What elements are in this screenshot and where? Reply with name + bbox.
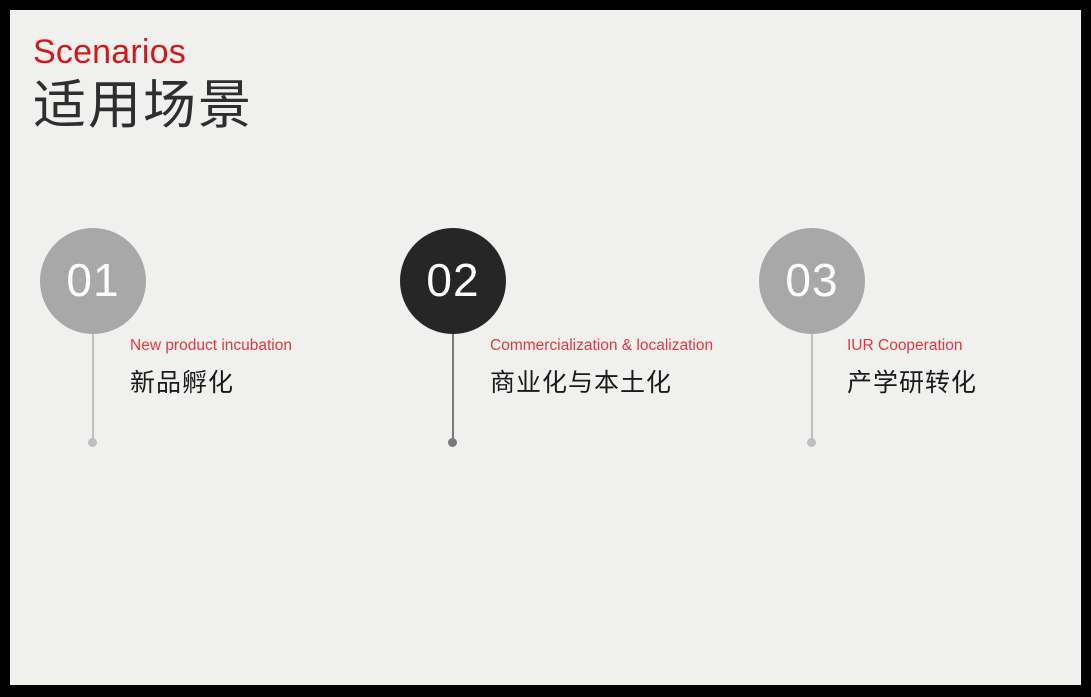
step-endpoint-dot-01 <box>88 438 97 447</box>
step-label-cn-02: 商业化与本土化 <box>490 366 713 400</box>
heading-block: Scenarios 适用场景 <box>33 32 253 137</box>
step-label-en-02: Commercialization & localization <box>490 336 713 356</box>
page-title: 适用场景 <box>33 75 253 137</box>
step-label-cn-01: 新品孵化 <box>130 366 292 400</box>
slide-canvas: Scenarios 适用场景 01 New product incubation… <box>10 10 1081 685</box>
step-stem-03 <box>811 334 813 441</box>
step-text-03: IUR Cooperation 产学研转化 <box>847 336 977 400</box>
step-stem-02 <box>452 334 454 441</box>
step-endpoint-dot-03 <box>807 438 816 447</box>
step-badge-03[interactable]: 03 <box>759 228 865 334</box>
step-text-02: Commercialization & localization 商业化与本土化 <box>490 336 713 400</box>
step-label-cn-03: 产学研转化 <box>847 366 977 400</box>
step-number-03: 03 <box>785 257 838 303</box>
step-label-en-03: IUR Cooperation <box>847 336 977 356</box>
slide-frame: Scenarios 适用场景 01 New product incubation… <box>0 0 1091 697</box>
eyebrow-label: Scenarios <box>33 32 253 72</box>
step-badge-02[interactable]: 02 <box>400 228 506 334</box>
step-label-en-01: New product incubation <box>130 336 292 356</box>
step-stem-01 <box>92 334 94 441</box>
step-endpoint-dot-02 <box>448 438 457 447</box>
step-badge-01[interactable]: 01 <box>40 228 146 334</box>
step-text-01: New product incubation 新品孵化 <box>130 336 292 400</box>
step-number-02: 02 <box>426 257 479 303</box>
step-number-01: 01 <box>66 257 119 303</box>
